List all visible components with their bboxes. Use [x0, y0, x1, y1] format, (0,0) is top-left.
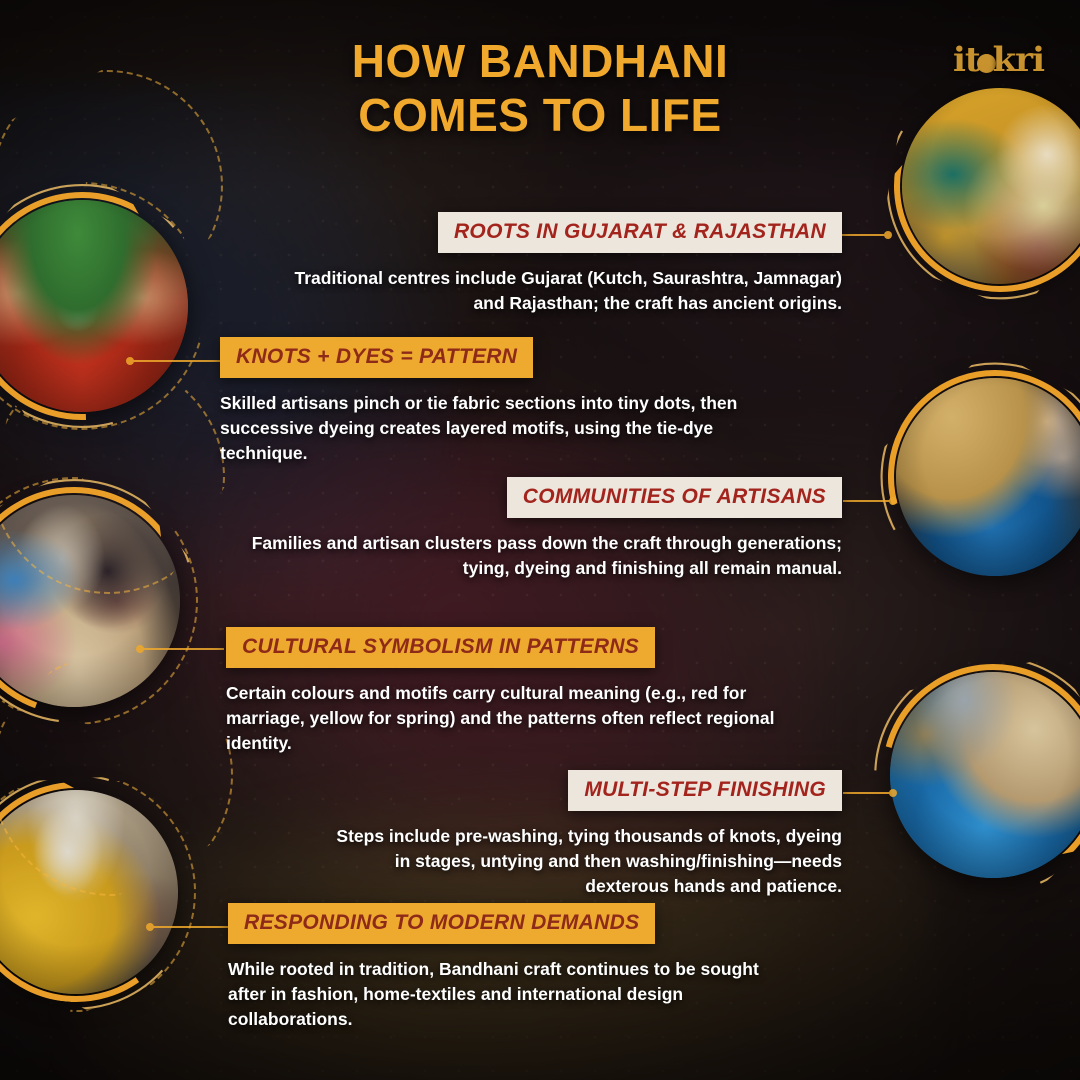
photo-blue-dye-vat-shading	[890, 672, 1080, 878]
photo-dyeing-blue-tub	[896, 378, 1080, 576]
section-cultural-symbolism-body: Certain colours and motifs carry cultura…	[226, 681, 786, 756]
section-knots-dyes-body: Skilled artisans pinch or tie fabric sec…	[220, 391, 800, 466]
infographic-canvas: HOW BANDHANI COMES TO LIFE itkri	[0, 0, 1080, 1080]
section-cultural-symbolism-heading: CULTURAL SYMBOLISM IN PATTERNS	[226, 627, 655, 668]
section-multi-step-finishing: MULTI-STEP FINISHING Steps include pre-w…	[320, 770, 842, 899]
section-roots: ROOTS IN GUJARAT & RAJASTHAN Traditional…	[270, 212, 842, 316]
section-roots-heading: ROOTS IN GUJARAT & RAJASTHAN	[438, 212, 842, 253]
brand-logo-prefix: it	[953, 40, 980, 80]
section-multi-step-finishing-heading: MULTI-STEP FINISHING	[568, 770, 842, 811]
photo-blue-dye-vat	[890, 672, 1080, 878]
section-modern-demands-heading: RESPONDING TO MODERN DEMANDS	[228, 903, 655, 944]
section-modern-demands-body: While rooted in tradition, Bandhani craf…	[228, 957, 784, 1032]
section-communities-heading: COMMUNITIES OF ARTISANS	[507, 477, 842, 518]
photo-women-tying	[902, 88, 1080, 284]
page-title-line-2: COMES TO LIFE	[170, 88, 910, 142]
section-multi-step-finishing-body: Steps include pre-washing, tying thousan…	[320, 824, 842, 899]
connector-dot-communities	[889, 497, 897, 505]
connector-dot-cultural	[136, 645, 144, 653]
section-knots-dyes: KNOTS + DYES = PATTERN Skilled artisans …	[220, 337, 800, 466]
brand-logo[interactable]: itkri	[953, 40, 1044, 80]
section-communities-body: Families and artisan clusters pass down …	[240, 531, 842, 581]
connector-line-finishing	[843, 792, 893, 794]
section-modern-demands: RESPONDING TO MODERN DEMANDS While roote…	[228, 903, 784, 1032]
connector-dot-finishing	[889, 789, 897, 797]
connector-line-communities	[843, 500, 893, 502]
section-roots-body: Traditional centres include Gujarat (Kut…	[270, 266, 842, 316]
connector-line-roots	[840, 234, 888, 236]
connector-line-modern	[150, 926, 228, 928]
connector-line-cultural	[140, 648, 224, 650]
section-knots-dyes-heading: KNOTS + DYES = PATTERN	[220, 337, 533, 378]
connector-line-knots	[130, 360, 220, 362]
section-cultural-symbolism: CULTURAL SYMBOLISM IN PATTERNS Certain c…	[226, 627, 786, 756]
connector-dot-knots	[126, 357, 134, 365]
connector-dot-modern	[146, 923, 154, 931]
brand-logo-suffix: kri	[993, 40, 1044, 80]
connector-dot-roots	[884, 231, 892, 239]
page-title-line-1: HOW BANDHANI	[170, 34, 910, 88]
photo-dyeing-blue-tub-shading	[896, 378, 1080, 576]
section-communities: COMMUNITIES OF ARTISANS Families and art…	[240, 477, 842, 581]
photo-women-tying-shading	[902, 88, 1080, 284]
